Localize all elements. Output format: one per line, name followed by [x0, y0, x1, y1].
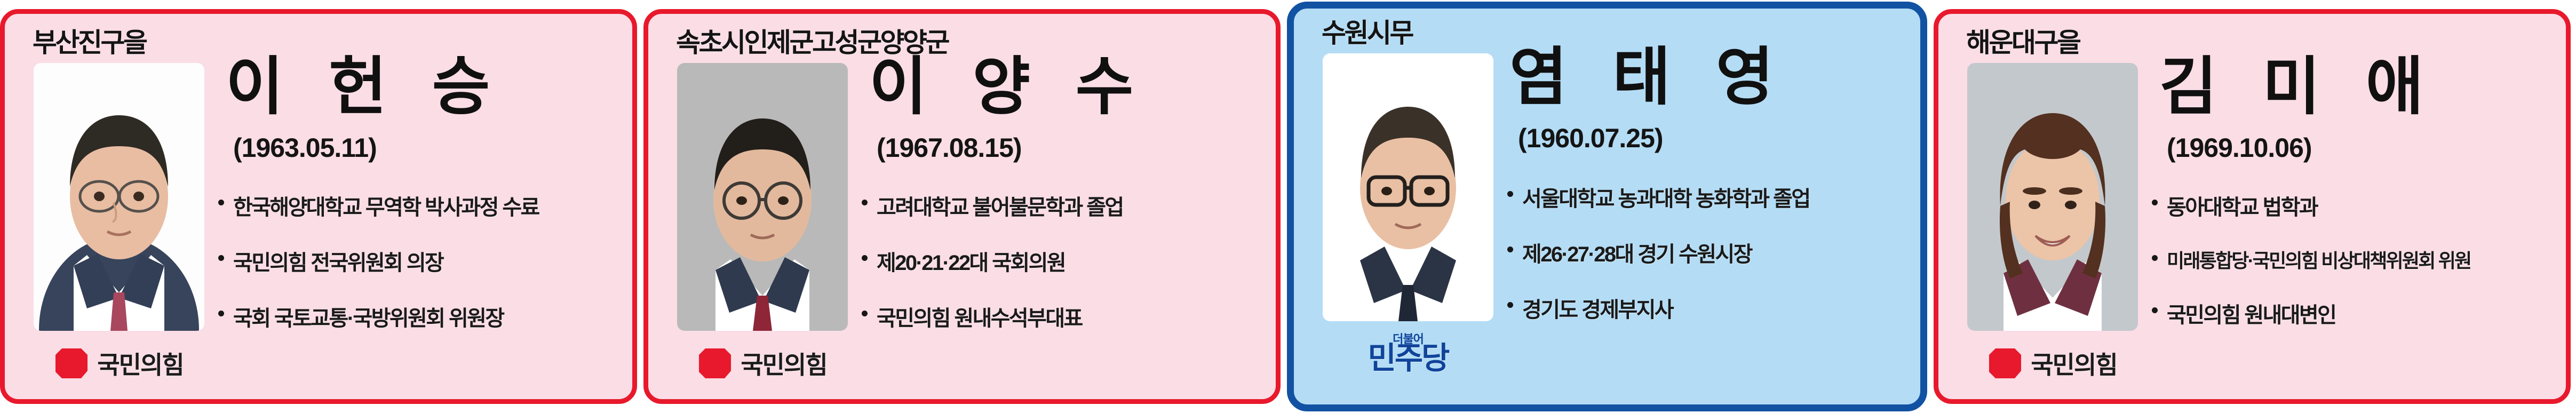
ppp-logo-icon	[698, 346, 732, 380]
card-left-column: 국민의힘	[1938, 14, 2139, 384]
candidate-dob: (1967.08.15)	[877, 132, 1022, 163]
profile-bullet-list: 고려대학교 불어불문학과 졸업 제20·21·22대 국회의원 국민의힘 원내수…	[860, 190, 1267, 356]
party-badge: 더불어 민주당	[1320, 333, 1496, 375]
candidate-dob: (1969.10.06)	[2167, 132, 2312, 163]
district-name: 수원시무	[1322, 12, 1412, 50]
candidate-card-selected[interactable]: 더불어 민주당 수원시무 염 태 영 (1960.07.25) 서울대학교 농과…	[1287, 2, 1927, 411]
party-name: 국민의힘	[97, 346, 183, 381]
card-left-column: 더불어 민주당	[1294, 9, 1494, 375]
profile-bullet: 국민의힘 전국위원회 의장	[216, 245, 624, 276]
profile-bullet: 동아대학교 법학과	[2150, 190, 2557, 221]
candidate-card[interactable]: 국민의힘 속초시인제군고성군양양군 이 양 수 (1967.08.15) 고려대…	[643, 9, 1281, 404]
district-name: 해운대구을	[1966, 21, 2080, 60]
party-name: 국민의힘	[2031, 346, 2117, 381]
profile-bullet: 국민의힘 원내대변인	[2150, 298, 2557, 329]
profile-bullet: 제26·27·28대 경기 수원시장	[1505, 237, 1912, 268]
card-left-column: 국민의힘	[648, 14, 849, 384]
card-right-column: 속초시인제군고성군양양군 이 양 수 (1967.08.15) 고려대학교 불어…	[849, 14, 1276, 399]
profile-bullet: 국민의힘 원내수석부대표	[860, 301, 1267, 332]
candidate-card-board: 국민의힘 부산진구을 이 헌 승 (1963.05.11) 한국해양대학교 무역…	[0, 0, 2576, 413]
candidate-name: 이 양 수	[869, 55, 1147, 118]
candidate-dob: (1963.05.11)	[233, 132, 377, 163]
district-name: 부산진구을	[33, 21, 146, 60]
party-badge: 국민의힘	[674, 343, 850, 384]
profile-bullet-list: 동아대학교 법학과 미래통합당·국민의힘 비상대책위원회 위원 국민의힘 원내대…	[2150, 190, 2557, 353]
profile-bullet: 한국해양대학교 무역학 박사과정 수료	[216, 190, 624, 221]
card-left-column: 국민의힘	[5, 14, 205, 384]
profile-bullet-list: 한국해양대학교 무역학 박사과정 수료 국민의힘 전국위원회 의장 국회 국토교…	[216, 190, 624, 356]
candidate-dob: (1960.07.25)	[1518, 123, 1663, 154]
candidate-photo	[34, 63, 204, 331]
profile-bullet: 경기도 경제부지사	[1505, 292, 1912, 323]
candidate-photo	[677, 63, 848, 331]
party-name: 국민의힘	[741, 346, 826, 381]
card-right-column: 부산진구을 이 헌 승 (1963.05.11) 한국해양대학교 무역학 박사과…	[205, 14, 632, 399]
candidate-name: 김 미 애	[2159, 55, 2437, 118]
profile-bullet: 국회 국토교통·국방위원회 위원장	[216, 301, 624, 332]
candidate-photo	[1967, 63, 2138, 331]
profile-bullet: 미래통합당·국민의힘 비상대책위원회 위원	[2150, 245, 2557, 273]
candidate-name: 이 헌 승	[226, 55, 504, 118]
card-right-column: 수원시무 염 태 영 (1960.07.25) 서울대학교 농과대학 농화학과 …	[1494, 9, 1920, 404]
ppp-logo-icon	[1988, 346, 2022, 380]
party-name: 민주당	[1367, 343, 1448, 374]
ppp-logo-icon	[54, 346, 89, 380]
card-right-column: 해운대구을 김 미 애 (1969.10.06) 동아대학교 법학과 미래통합당…	[2139, 14, 2566, 399]
profile-bullet-list: 서울대학교 농과대학 농화학과 졸업 제26·27·28대 경기 수원시장 경기…	[1505, 181, 1912, 348]
profile-bullet: 서울대학교 농과대학 농화학과 졸업	[1505, 181, 1912, 212]
profile-bullet: 고려대학교 불어불문학과 졸업	[860, 190, 1267, 221]
candidate-photo	[1323, 53, 1493, 321]
candidate-name: 염 태 영	[1509, 46, 1787, 109]
profile-bullet: 제20·21·22대 국회의원	[860, 245, 1267, 276]
party-badge: 국민의힘	[1965, 343, 2141, 384]
candidate-card[interactable]: 국민의힘 해운대구을 김 미 애 (1969.10.06) 동아대학교 법학과 …	[1934, 9, 2571, 404]
party-badge: 국민의힘	[31, 343, 207, 384]
candidate-card[interactable]: 국민의힘 부산진구을 이 헌 승 (1963.05.11) 한국해양대학교 무역…	[0, 9, 637, 404]
